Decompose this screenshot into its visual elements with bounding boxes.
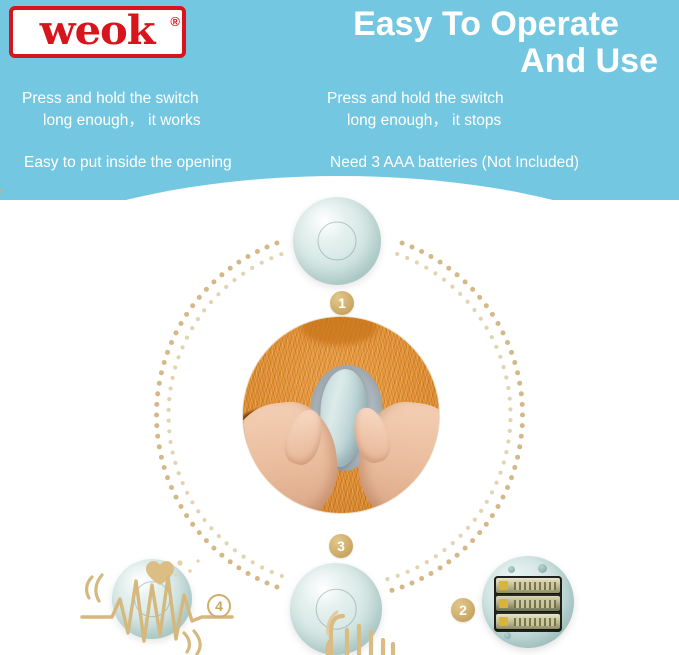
right-text-line1: Press and hold the switch [327, 88, 504, 110]
aaa-battery [496, 614, 560, 629]
steps-diagram: 1 2 [0, 190, 679, 655]
step-2-badge: 2 [451, 598, 475, 622]
right-text-line3: Need 3 AAA batteries (Not Included) [330, 152, 579, 174]
page-title: Easy To Operate And Use [300, 6, 672, 80]
step-2-battery-device [482, 556, 574, 648]
step-4-badge: 4 [207, 594, 231, 618]
left-text-line1: Press and hold the switch [22, 88, 199, 110]
step-3-badge: 3 [329, 534, 353, 558]
step-1-device [293, 197, 381, 285]
screw-icon [538, 564, 547, 573]
device-button-ring-icon [134, 581, 170, 617]
aaa-battery [496, 596, 560, 611]
page-title-line2: And Use [300, 43, 672, 80]
center-photo-insert-device [243, 317, 439, 513]
brand-logo-text: weok [40, 11, 155, 51]
battery-compartment [494, 576, 562, 632]
header-banner: weok ® Easy To Operate And Use Press and… [0, 0, 679, 200]
device-button-ring-icon [316, 589, 357, 630]
product-infographic: weok ® Easy To Operate And Use Press and… [0, 0, 679, 655]
aaa-battery [496, 578, 560, 593]
screw-icon [508, 566, 515, 573]
right-text-line2: long enough， it stops [347, 110, 501, 132]
step-3-device [290, 563, 382, 655]
registered-trademark-icon: ® [170, 14, 180, 29]
left-text-line2: long enough， it works [43, 110, 201, 132]
screw-icon [504, 632, 511, 639]
step-1-badge: 1 [330, 291, 354, 315]
device-button-ring-icon [318, 222, 357, 261]
brand-logo: weok ® [9, 6, 186, 58]
left-text-line3: Easy to put inside the opening [24, 152, 232, 174]
step-4-device [112, 559, 192, 639]
page-title-line1: Easy To Operate [300, 6, 672, 43]
